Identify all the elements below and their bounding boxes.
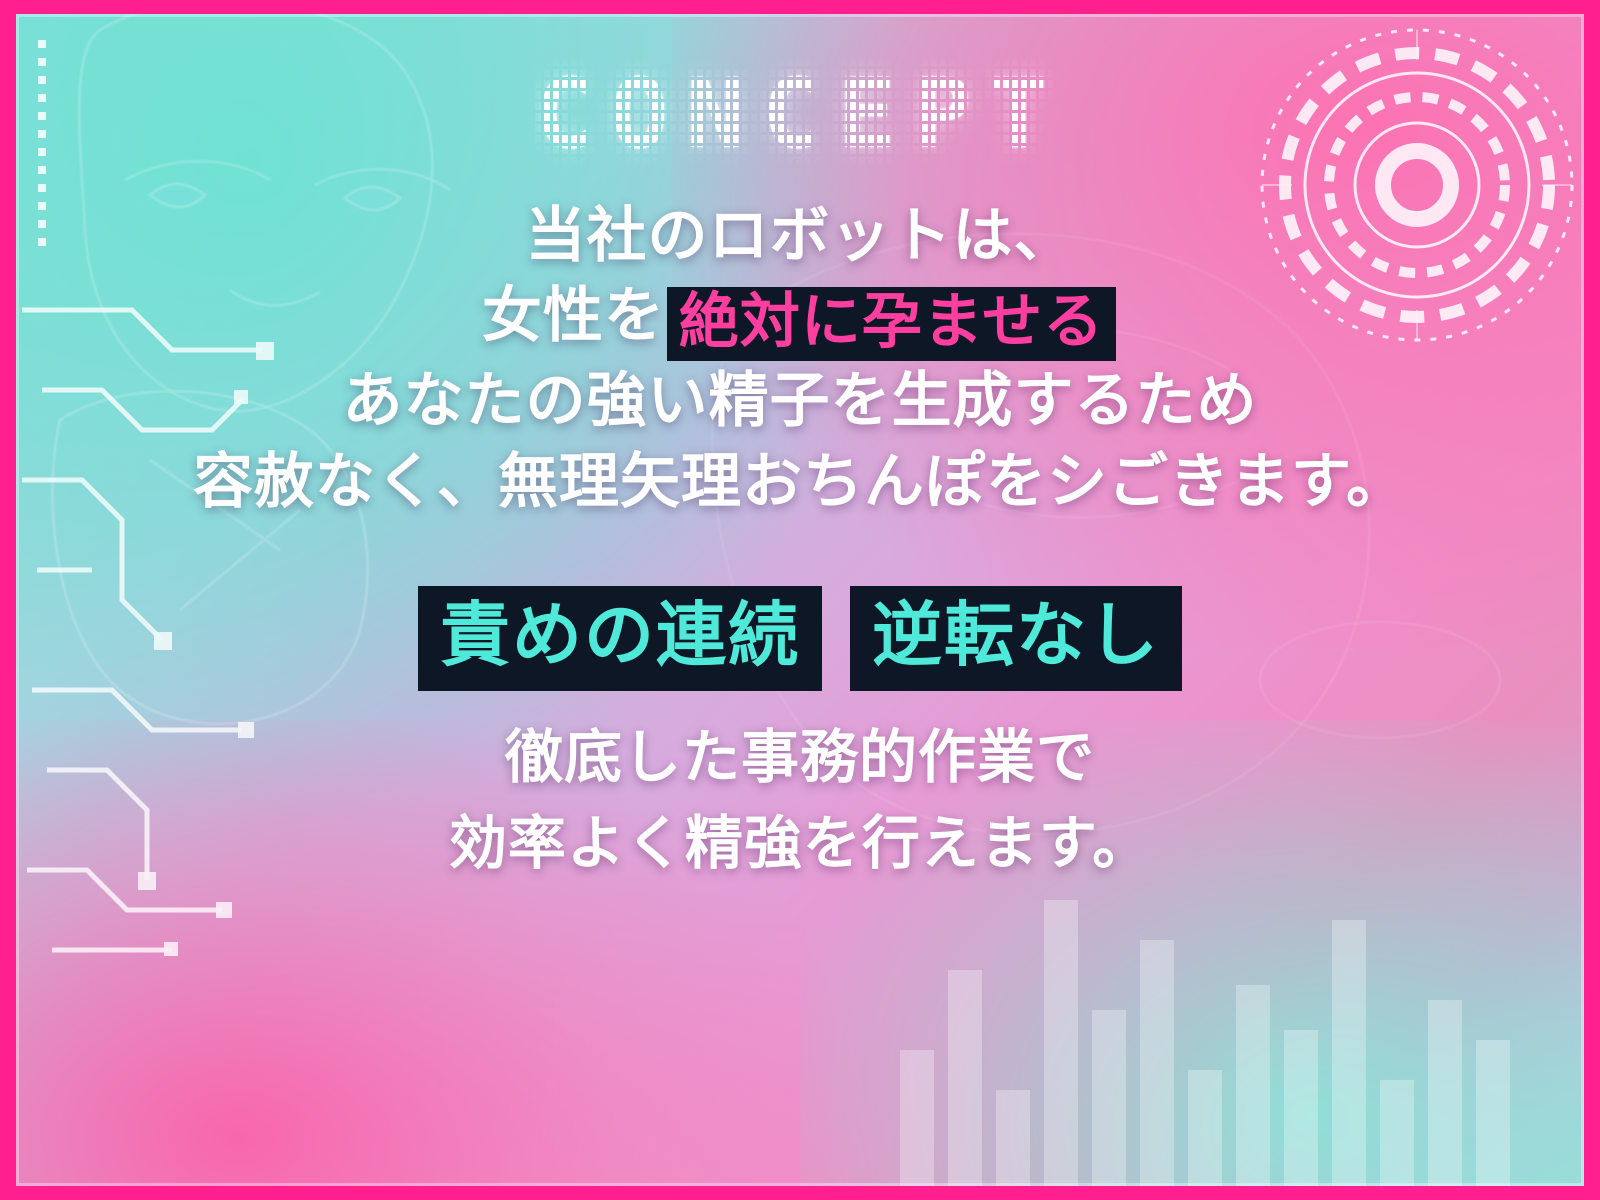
- outro-paragraph: 徹底した事務的作業で 効率よく精強を行えます。: [449, 715, 1151, 887]
- tag-badge-1: 責めの連続: [418, 586, 822, 691]
- outro-line-2: 効率よく精強を行えます。: [449, 801, 1151, 887]
- intro-paragraph: 当社のロボットは、 女性を絶対に孕ませる あなたの強い精子を生成するため 容赦な…: [193, 196, 1407, 522]
- tag-row: 責めの連続 逆転なし: [418, 586, 1182, 691]
- tag-badge-2: 逆転なし: [850, 586, 1182, 691]
- intro-line-1: 当社のロボットは、: [193, 196, 1407, 276]
- intro-highlight: 絶対に孕ませる: [667, 287, 1116, 361]
- intro-line-2: 女性を絶対に孕ませる: [193, 276, 1407, 361]
- intro-line-4: 容赦なく、無理矢理おちんぽをシごきます。: [193, 442, 1407, 522]
- outro-line-1: 徹底した事務的作業で: [449, 715, 1151, 801]
- intro-line-3: あなたの強い精子を生成するため: [193, 361, 1407, 441]
- concept-banner: CONCEPT 当社のロボットは、 女性を絶対に孕ませる あなたの強い精子を生成…: [0, 0, 1600, 1200]
- page-title: CONCEPT: [535, 58, 1066, 170]
- content-area: CONCEPT 当社のロボットは、 女性を絶対に孕ませる あなたの強い精子を生成…: [0, 0, 1600, 1200]
- intro-line-2-before: 女性を: [482, 281, 665, 351]
